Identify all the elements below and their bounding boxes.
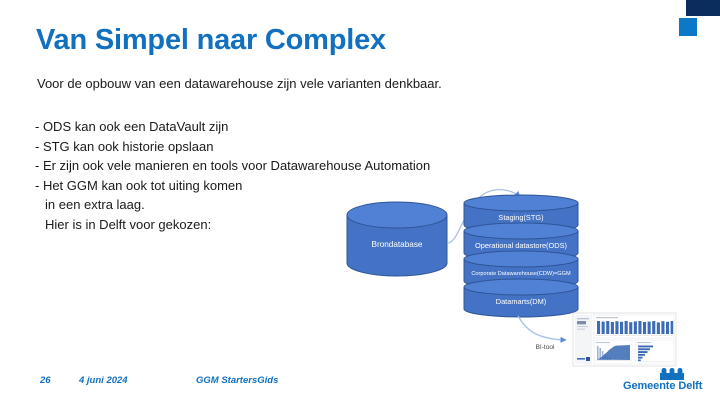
decor-blue-square [679, 18, 697, 36]
cylinder-label: Brondatabase [372, 240, 423, 249]
page-subtitle: Voor de opbouw van een datawarehouse zij… [37, 76, 442, 91]
cylinder-label: Operational datastore(ODS) [475, 241, 567, 250]
cylinder-label: Datamarts(DM) [496, 297, 547, 306]
cylinder-label: Staging(STG) [498, 213, 543, 222]
footer-date: 4 juni 2024 [79, 375, 128, 386]
bi-dashboard-thumbnail [573, 313, 676, 366]
architecture-diagram: Brondatabase Staging(STG) Operational da… [330, 185, 720, 385]
bi-tool-label: BI-tool [535, 344, 555, 351]
cylinder-brondatabase: Brondatabase [347, 202, 447, 276]
list-item: - Er zijn ook vele manieren en tools voo… [35, 156, 430, 176]
list-item: - ODS kan ook een DataVault zijn [35, 117, 430, 137]
list-item: - STG kan ook historie opslaan [35, 137, 430, 157]
gemeente-delft-logo: Gemeente Delft [623, 367, 709, 397]
cylinder-label: Corporate Datawarehouse(CDW)=GGM [471, 271, 571, 277]
slide-canvas: Van Simpel naar Complex Voor de opbouw v… [0, 0, 720, 405]
page-title: Van Simpel naar Complex [36, 24, 386, 57]
footer-page-number: 26 [40, 375, 51, 386]
logo-text: Gemeente Delft [623, 380, 702, 392]
footer-deck-name: GGM StartersGids [196, 375, 278, 386]
arrow-datamarts-to-bi [518, 316, 566, 340]
cylinder-datamarts: Datamarts(DM) [464, 279, 578, 317]
decor-navy-square [686, 0, 720, 16]
